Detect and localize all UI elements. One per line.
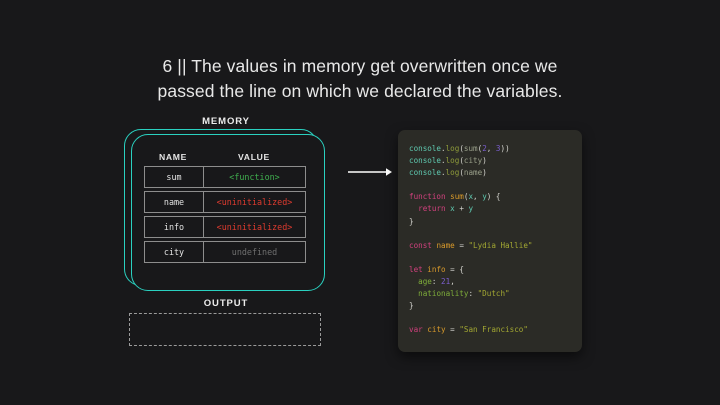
code-line: let info = { (409, 265, 464, 274)
code-line: console.log(sum(2, 3)) (409, 144, 510, 153)
code-line: } (409, 217, 414, 226)
token-city: city (427, 325, 445, 334)
token-brace-close: } (409, 301, 414, 310)
code-block: console.log(sum(2, 3)) console.log(city)… (409, 143, 582, 337)
token-paren-close: ) (482, 156, 487, 165)
token-key-age: age (418, 277, 432, 286)
memory-row-name: city (145, 242, 204, 262)
token-plus: + (459, 204, 464, 213)
token-equals: = (450, 325, 455, 334)
memory-row-name: info (145, 217, 204, 237)
code-line: age: 21, (409, 277, 455, 286)
output-label: OUTPUT (128, 298, 324, 309)
token-number: 21 (441, 277, 450, 286)
token-comma: , (487, 144, 496, 153)
code-line: var city = "San Francisco" (409, 325, 528, 334)
memory-row-value: <function> (204, 167, 305, 187)
memory-table-header: NAME VALUE (144, 152, 306, 166)
table-row: info <uninitialized> (144, 216, 306, 238)
memory-label: MEMORY (128, 116, 324, 127)
token-log: log (446, 168, 460, 177)
token-console: console (409, 144, 441, 153)
page-title-line-1: 6 || The values in memory get overwritte… (0, 54, 720, 79)
code-line: nationality: "Dutch" (409, 289, 510, 298)
column-header-name: NAME (144, 152, 202, 162)
table-row: sum <function> (144, 166, 306, 188)
code-line: return x + y (409, 204, 473, 213)
token-keyword-let: let (409, 265, 423, 274)
code-line: const name = "Lydia Hallie" (409, 241, 532, 250)
memory-row-name: sum (145, 167, 204, 187)
memory-row-name: name (145, 192, 204, 212)
arrow-right-icon (348, 165, 392, 177)
token-console: console (409, 168, 441, 177)
code-line: function sum(x, y) { (409, 192, 501, 201)
memory-row-value: undefined (204, 242, 305, 262)
token-sum: sum (464, 144, 478, 153)
code-blank-line (409, 312, 582, 324)
token-comma: , (473, 192, 482, 201)
token-param-x: x (450, 204, 455, 213)
code-blank-line (409, 228, 582, 240)
token-string: "San Francisco" (459, 325, 528, 334)
token-name: name (436, 241, 454, 250)
memory-row-value: <uninitialized> (204, 217, 305, 237)
table-row: name <uninitialized> (144, 191, 306, 213)
token-colon: : (432, 277, 437, 286)
token-name: name (464, 168, 482, 177)
code-blank-line (409, 252, 582, 264)
token-colon: : (468, 289, 473, 298)
memory-section-header: MEMORY (128, 116, 324, 127)
code-blank-line (409, 179, 582, 191)
memory-row-value: <uninitialized> (204, 192, 305, 212)
table-row: city undefined (144, 241, 306, 263)
token-comma: , (450, 277, 455, 286)
token-keyword-return: return (418, 204, 445, 213)
token-keyword-var: var (409, 325, 423, 334)
token-city: city (464, 156, 482, 165)
token-string: "Lydia Hallie" (468, 241, 532, 250)
token-log: log (446, 144, 460, 153)
code-panel: console.log(sum(2, 3)) console.log(city)… (398, 130, 582, 352)
token-key-nationality: nationality (418, 289, 468, 298)
token-log: log (446, 156, 460, 165)
page-title-line-2: passed the line on which we declared the… (0, 79, 720, 104)
token-console: console (409, 156, 441, 165)
token-keyword-function: function (409, 192, 446, 201)
token-paren-close: ) (482, 168, 487, 177)
token-info: info (427, 265, 445, 274)
page-title: 6 || The values in memory get overwritte… (0, 54, 720, 104)
output-section-header: OUTPUT (128, 298, 324, 309)
token-keyword-const: const (409, 241, 432, 250)
memory-table: NAME VALUE sum <function> name <uninitia… (144, 152, 306, 266)
token-brace-open: { (491, 192, 500, 201)
token-function-name: sum (450, 192, 464, 201)
token-equals: = (459, 241, 464, 250)
token-string: "Dutch" (478, 289, 510, 298)
column-header-value: VALUE (202, 152, 306, 162)
token-param-y: y (468, 204, 473, 213)
code-line: } (409, 301, 414, 310)
output-box (129, 313, 321, 346)
code-line: console.log(name) (409, 168, 487, 177)
token-brace-close: } (409, 217, 414, 226)
token-brace-open: { (455, 265, 464, 274)
code-line: console.log(city) (409, 156, 487, 165)
token-paren-close: ) (505, 144, 510, 153)
